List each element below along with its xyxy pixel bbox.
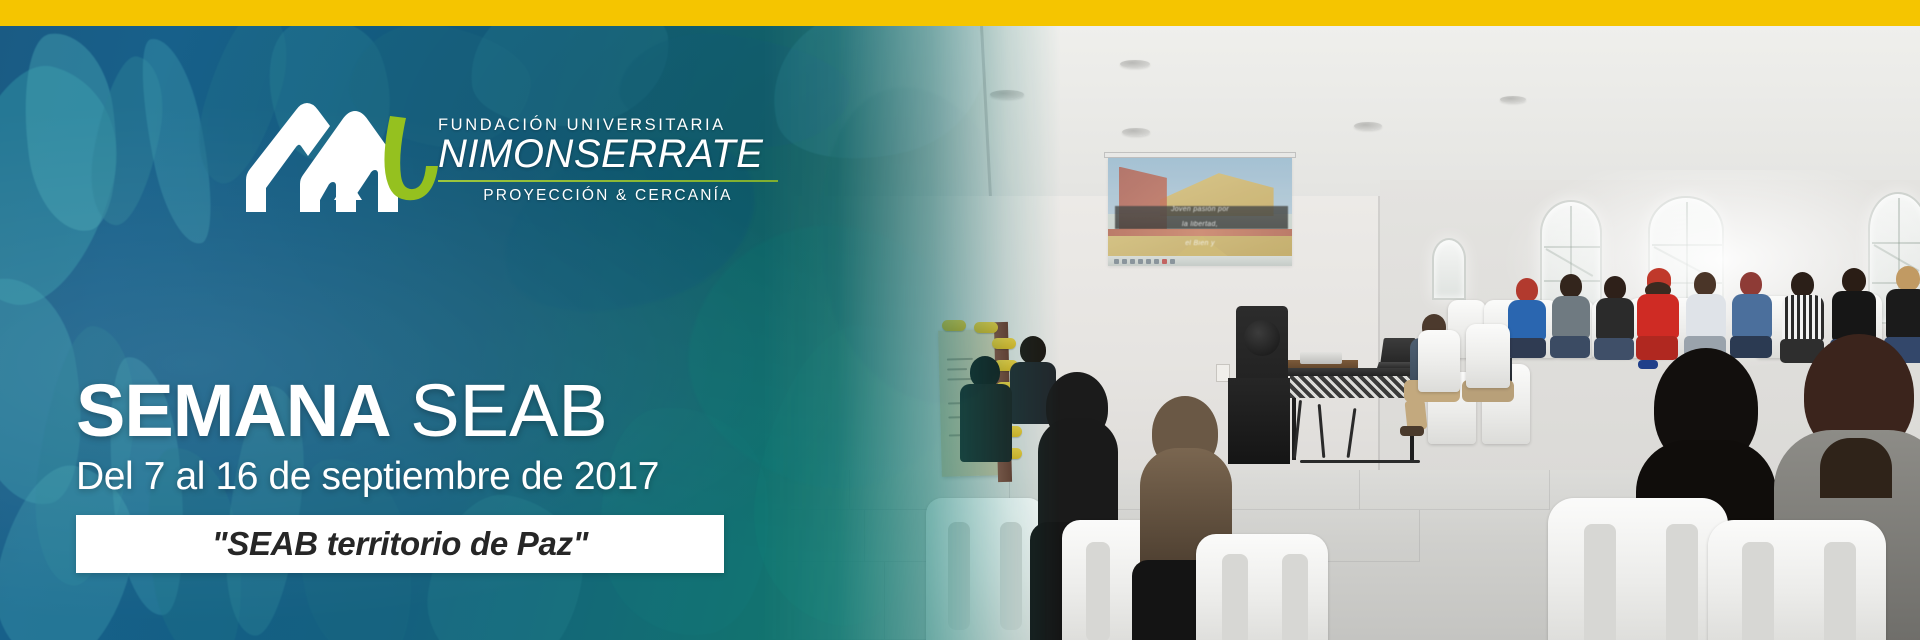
chair-empty — [1418, 330, 1460, 392]
slide-text-line-1: Joven pasión por — [1108, 206, 1292, 213]
projector-screen: Joven pasión por la libertad, el Bien y — [1108, 158, 1292, 266]
cable-floor — [1300, 460, 1420, 463]
arched-window-small — [1432, 238, 1466, 300]
event-title-light: SEAB — [410, 369, 607, 452]
projector — [1300, 352, 1342, 364]
event-slogan-box: "SEAB territorio de Paz" — [76, 515, 724, 573]
event-dates: Del 7 al 16 de septiembre de 2017 — [76, 455, 976, 499]
chair-foreground — [1548, 498, 1728, 640]
logo-divider — [438, 180, 778, 182]
ceiling-downlight — [1500, 96, 1526, 103]
logo-line-main: NIMONSERRATE — [438, 133, 778, 175]
logo-wordmark: FUNDACIÓN UNIVERSITARIA NIMONSERRATE PRO… — [438, 116, 778, 205]
equipment-table — [1288, 368, 1416, 376]
ceiling-downlight — [1354, 122, 1382, 130]
projected-slide: Joven pasión por la libertad, el Bien y — [1108, 158, 1292, 266]
unimonserrate-logo: FUNDACIÓN UNIVERSITARIA NIMONSERRATE PRO… — [238, 96, 778, 236]
event-title-bold: SEMANA — [76, 369, 391, 452]
top-accent-bar — [0, 0, 1920, 26]
event-slogan: "SEAB territorio de Paz" — [212, 525, 588, 563]
chair-foreground — [1708, 520, 1886, 640]
event-title: SEMANA SEAB — [76, 375, 976, 448]
ceiling-downlight — [1122, 128, 1150, 136]
unimonserrate-mountain-mark — [238, 100, 448, 216]
ceiling-downlight — [1120, 60, 1150, 68]
logo-tagline: PROYECCIÓN & CERCANÍA — [438, 187, 778, 205]
table-skirt — [1290, 376, 1414, 398]
slide-text-line-2: la libertad, — [1108, 221, 1292, 228]
slide-text-line-3: el Bien y — [1108, 240, 1292, 247]
chair-foreground — [1196, 534, 1328, 640]
headline-block: SEMANA SEAB Del 7 al 16 de septiembre de… — [76, 375, 976, 573]
event-banner: Joven pasión por la libertad, el Bien y — [0, 0, 1920, 640]
wall-corner — [1378, 196, 1380, 496]
chair-empty — [1466, 324, 1510, 388]
slide-taskbar — [1108, 256, 1292, 266]
